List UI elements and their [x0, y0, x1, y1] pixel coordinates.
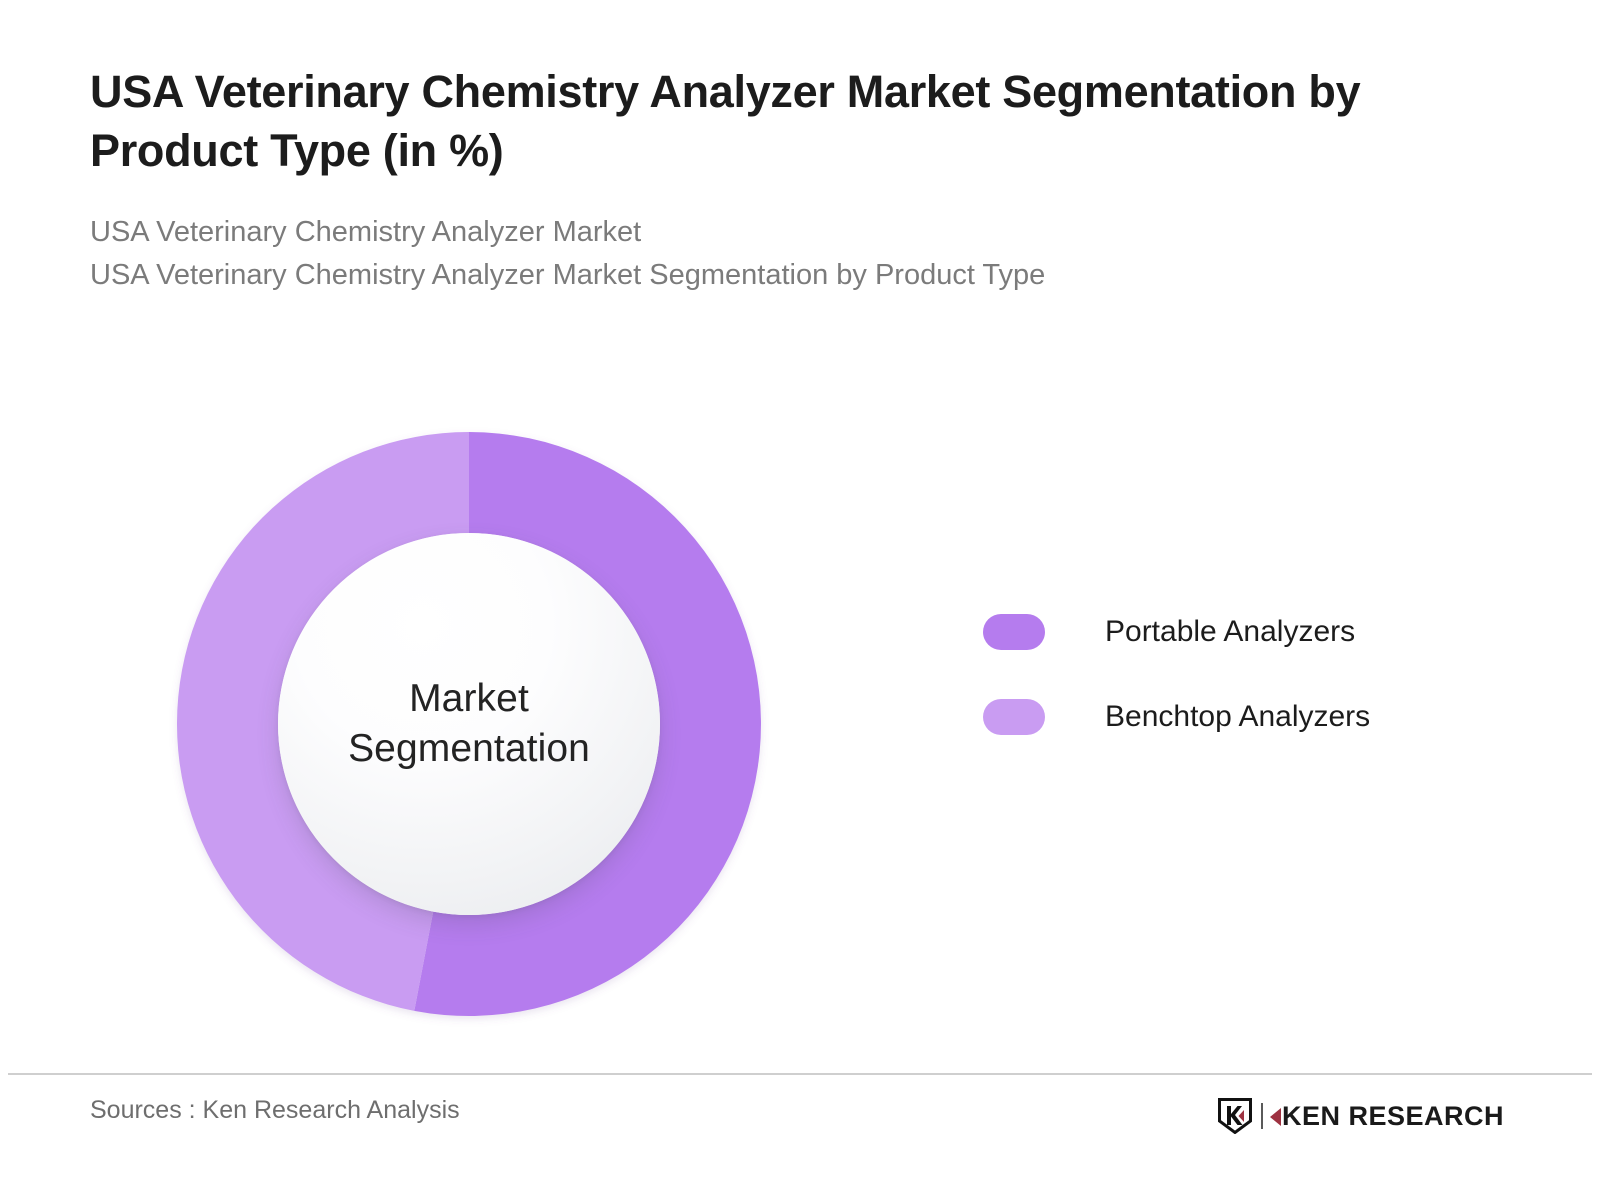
chart-subtitle: USA Veterinary Chemistry Analyzer Market… [90, 211, 1560, 297]
chart-subtitle-line-1: USA Veterinary Chemistry Analyzer Market [90, 211, 1560, 254]
brand-logo: KEN RESEARCH [1218, 1097, 1504, 1135]
legend-item-portable-analyzers[interactable]: Portable Analyzers [983, 604, 1370, 660]
page-title: USA Veterinary Chemistry Analyzer Market… [90, 62, 1540, 181]
chart-header: USA Veterinary Chemistry Analyzer Market… [90, 62, 1560, 297]
donut-center-hub: Market Segmentation [278, 533, 660, 915]
sources-note: Sources : Ken Research Analysis [90, 1096, 460, 1125]
donut-chart-graphic: Market Segmentation [177, 432, 761, 1016]
slide-canvas: USA Veterinary Chemistry Analyzer Market… [0, 0, 1600, 1200]
chart-legend: Portable Analyzers Benchtop Analyzers [983, 604, 1370, 774]
brand-name-text: KEN RESEARCH [1282, 1101, 1504, 1132]
legend-item-benchtop-analyzers[interactable]: Benchtop Analyzers [983, 689, 1370, 745]
legend-label-portable-analyzers: Portable Analyzers [1105, 615, 1355, 649]
legend-swatch-icon-benchtop-analyzers [983, 699, 1045, 735]
ken-research-shield-icon [1218, 1098, 1252, 1134]
brand-wordmark: KEN RESEARCH [1261, 1101, 1504, 1132]
brand-triangle-icon [1270, 1108, 1281, 1126]
donut-center-label-line-1: Market [348, 674, 590, 724]
chart-subtitle-line-2: USA Veterinary Chemistry Analyzer Market… [90, 254, 1560, 297]
legend-swatch-icon-portable-analyzers [983, 614, 1045, 650]
donut-center-label: Market Segmentation [348, 674, 590, 774]
legend-label-benchtop-analyzers: Benchtop Analyzers [1105, 700, 1370, 734]
donut-center-label-line-2: Segmentation [348, 724, 590, 774]
footer-divider [8, 1073, 1592, 1075]
brand-divider-bar [1261, 1103, 1263, 1129]
